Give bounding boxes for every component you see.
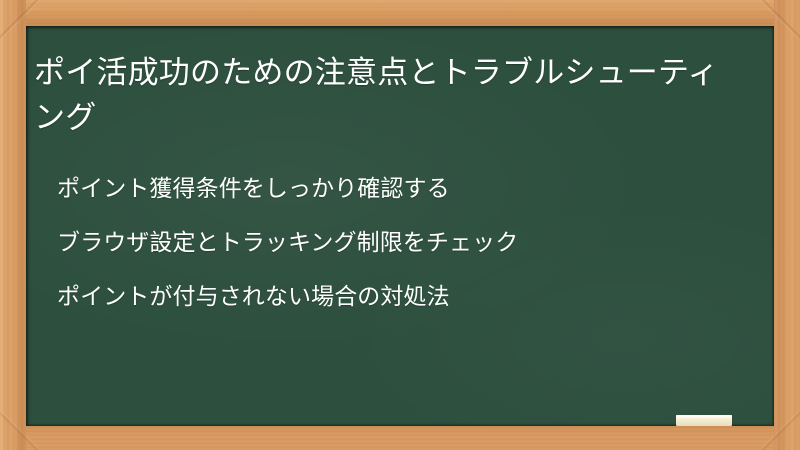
chalkboard-content: ポイ活成功のための注意点とトラブルシューティング ポイント獲得条件をしっかり確認…: [26, 26, 774, 426]
list-item: ブラウザ設定とトラッキング制限をチェック: [57, 216, 747, 270]
frame-bottom-rail: [0, 426, 800, 450]
chalk-stick-icon: [676, 415, 732, 426]
frame-left-stile: [0, 0, 26, 450]
chalkboard-surface: ポイ活成功のための注意点とトラブルシューティング ポイント獲得条件をしっかり確認…: [26, 26, 774, 426]
slide-title: ポイ活成功のための注意点とトラブルシューティング: [34, 51, 746, 141]
slide-bullet-list: ポイント獲得条件をしっかり確認する ブラウザ設定とトラッキング制限をチェック ポ…: [57, 162, 747, 324]
list-item: ポイントが付与されない場合の対処法: [57, 270, 747, 324]
list-item: ポイント獲得条件をしっかり確認する: [57, 162, 747, 216]
frame-top-rail: [0, 0, 800, 26]
chalkboard-slide: ポイ活成功のための注意点とトラブルシューティング ポイント獲得条件をしっかり確認…: [0, 0, 800, 450]
frame-right-stile: [774, 0, 800, 450]
